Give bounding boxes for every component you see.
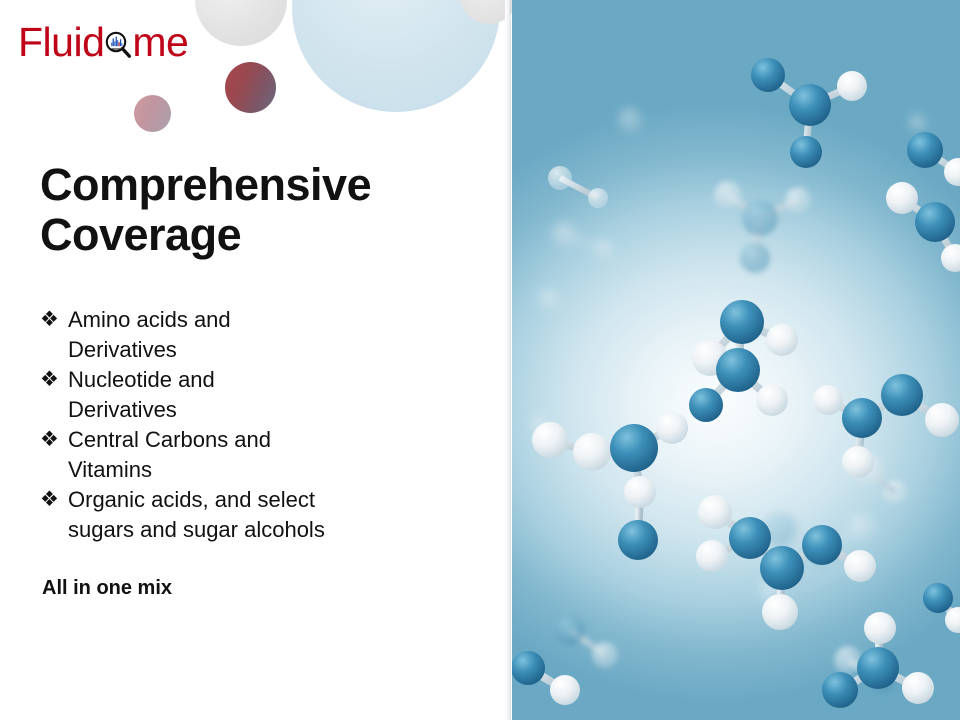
diamond-bullet-icon: ❖ <box>40 425 68 455</box>
brand-logo[interactable]: Fluid <box>18 20 188 64</box>
page-title: Comprehensive Coverage <box>40 160 460 261</box>
tagline: All in one mix <box>42 577 172 600</box>
page-title-line2: Coverage <box>40 210 460 260</box>
circle-gray-top-left <box>195 0 287 46</box>
diamond-bullet-icon: ❖ <box>40 305 68 335</box>
circle-maroon <box>225 62 276 113</box>
list-item: ❖ Amino acids and Derivatives <box>40 305 470 365</box>
circle-pink <box>134 95 171 132</box>
list-item-label: Central Carbons and Vitamins <box>68 425 470 485</box>
slide-root: Fluid <box>0 0 960 720</box>
list-item-label: Organic acids, and select sugars and sug… <box>68 485 470 545</box>
panel-divider <box>505 0 511 720</box>
foreground-molecules <box>511 58 960 708</box>
molecular-structure-image <box>510 0 960 720</box>
list-item: ❖ Central Carbons and Vitamins <box>40 425 470 485</box>
circle-blue-large <box>292 0 500 112</box>
logo-text-after: me <box>132 22 188 63</box>
page-title-line1: Comprehensive <box>40 160 460 210</box>
logo-text-before: Fluid <box>18 22 104 63</box>
diamond-bullet-icon: ❖ <box>40 485 68 515</box>
diamond-bullet-icon: ❖ <box>40 365 68 395</box>
list-item: ❖ Organic acids, and select sugars and s… <box>40 485 470 545</box>
molecule-illustration <box>510 0 960 720</box>
list-item-label: Amino acids and Derivatives <box>68 305 470 365</box>
list-item-label: Nucleotide and Derivatives <box>68 365 470 425</box>
list-item: ❖ Nucleotide and Derivatives <box>40 365 470 425</box>
feature-list: ❖ Amino acids and Derivatives ❖ Nucleoti… <box>40 305 470 545</box>
magnifier-chromatogram-icon <box>103 30 133 60</box>
content-panel: Fluid <box>0 0 512 720</box>
